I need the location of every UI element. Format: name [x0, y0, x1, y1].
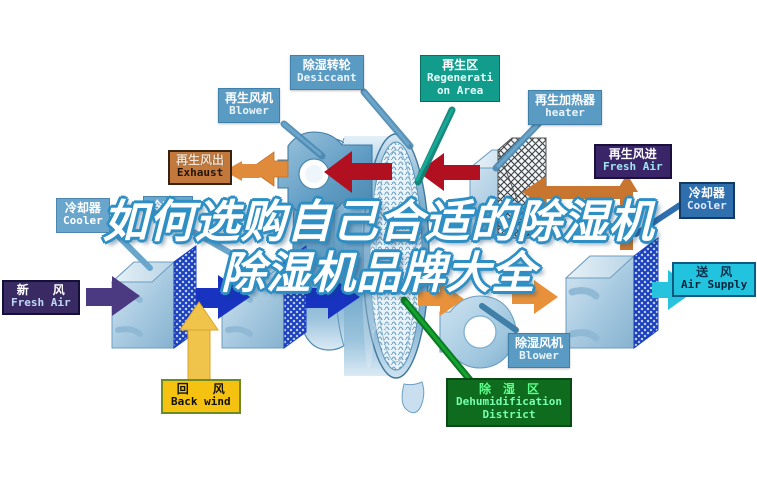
label-air-supply-cn: 送 风 [681, 266, 747, 279]
dehum-arrow-2 [512, 280, 558, 314]
label-regeneration-heater-cn: 再生加热器 [535, 94, 595, 107]
label-cooler-left-lower-en: Cooler [63, 215, 103, 227]
label-regeneration-area-en-1: Regenerati [427, 72, 493, 84]
label-dehumidification-blower[interactable]: 除湿风机 Blower [508, 333, 570, 368]
label-air-supply-en: Air Supply [681, 279, 747, 291]
label-cooler-left-lower-cn: 冷却器 [63, 202, 103, 215]
label-regeneration-fresh-air-en: Fresh Air [603, 161, 663, 173]
label-cooler-right-cn: 冷却器 [687, 187, 727, 200]
label-regeneration-blower-en: Blower [225, 105, 273, 117]
label-back-wind[interactable]: 回 风 Back wind [161, 379, 241, 414]
label-desiccant-rotor-cn: 除湿转轮 [297, 59, 357, 72]
label-regeneration-blower[interactable]: 再生风机 Blower [218, 88, 280, 123]
label-exhaust-cn: 再生风出 [176, 154, 224, 167]
label-dehumidification-blower-en: Blower [515, 350, 563, 362]
label-regeneration-area-cn: 再生区 [427, 59, 493, 72]
label-regeneration-heater[interactable]: 再生加热器 heater [528, 90, 602, 125]
label-dehumidification-district[interactable]: 除 湿 区 Dehumidification District [446, 378, 572, 427]
label-back-wind-cn: 回 风 [171, 383, 231, 396]
label-air-supply[interactable]: 送 风 Air Supply [672, 262, 756, 297]
label-cooler-right[interactable]: 冷却器 Cooler [679, 182, 735, 219]
label-fresh-air-inlet[interactable]: 新 风 Fresh Air [2, 280, 80, 315]
label-dehumidification-blower-cn: 除湿风机 [515, 337, 563, 350]
label-exhaust[interactable]: 再生风出 Exhaust [168, 150, 232, 185]
label-regeneration-blower-cn: 再生风机 [225, 92, 273, 105]
watermark: XT [372, 322, 392, 337]
label-desiccant-rotor[interactable]: 除湿转轮 Desiccant [290, 55, 364, 90]
label-fresh-air-inlet-cn: 新 风 [11, 284, 71, 297]
supply-filter-graphic [566, 238, 658, 348]
label-dehumidification-district-cn: 除 湿 区 [456, 383, 562, 396]
label-back-wind-en: Back wind [171, 396, 231, 408]
label-regeneration-fresh-air-cn: 再生风进 [603, 148, 663, 161]
label-dehumidification-district-en-1: Dehumidification [456, 396, 562, 408]
label-desiccant-rotor-en: Desiccant [297, 72, 357, 84]
label-regeneration-area-en-2: on Area [427, 85, 493, 97]
label-dehumidification-district-en-2: District [456, 409, 562, 421]
label-fresh-air-inlet-en: Fresh Air [11, 297, 71, 309]
schematic-canvas: XT 除湿转轮 Desiccant 再生风机 Blower 再生区 Regene… [0, 0, 757, 488]
label-cooler-left-upper[interactable]: 冷却器 [143, 196, 193, 218]
label-regeneration-area[interactable]: 再生区 Regenerati on Area [420, 55, 500, 102]
label-regeneration-heater-en: heater [535, 107, 595, 119]
label-cooler-left-lower[interactable]: 冷却器 Cooler [56, 198, 110, 233]
label-cooler-left-upper-cn: 冷却器 [150, 200, 186, 213]
label-cooler-right-en: Cooler [687, 200, 727, 212]
label-regeneration-fresh-air[interactable]: 再生风进 Fresh Air [594, 144, 672, 179]
diagram-illustration [0, 0, 757, 488]
label-exhaust-en: Exhaust [176, 167, 224, 179]
